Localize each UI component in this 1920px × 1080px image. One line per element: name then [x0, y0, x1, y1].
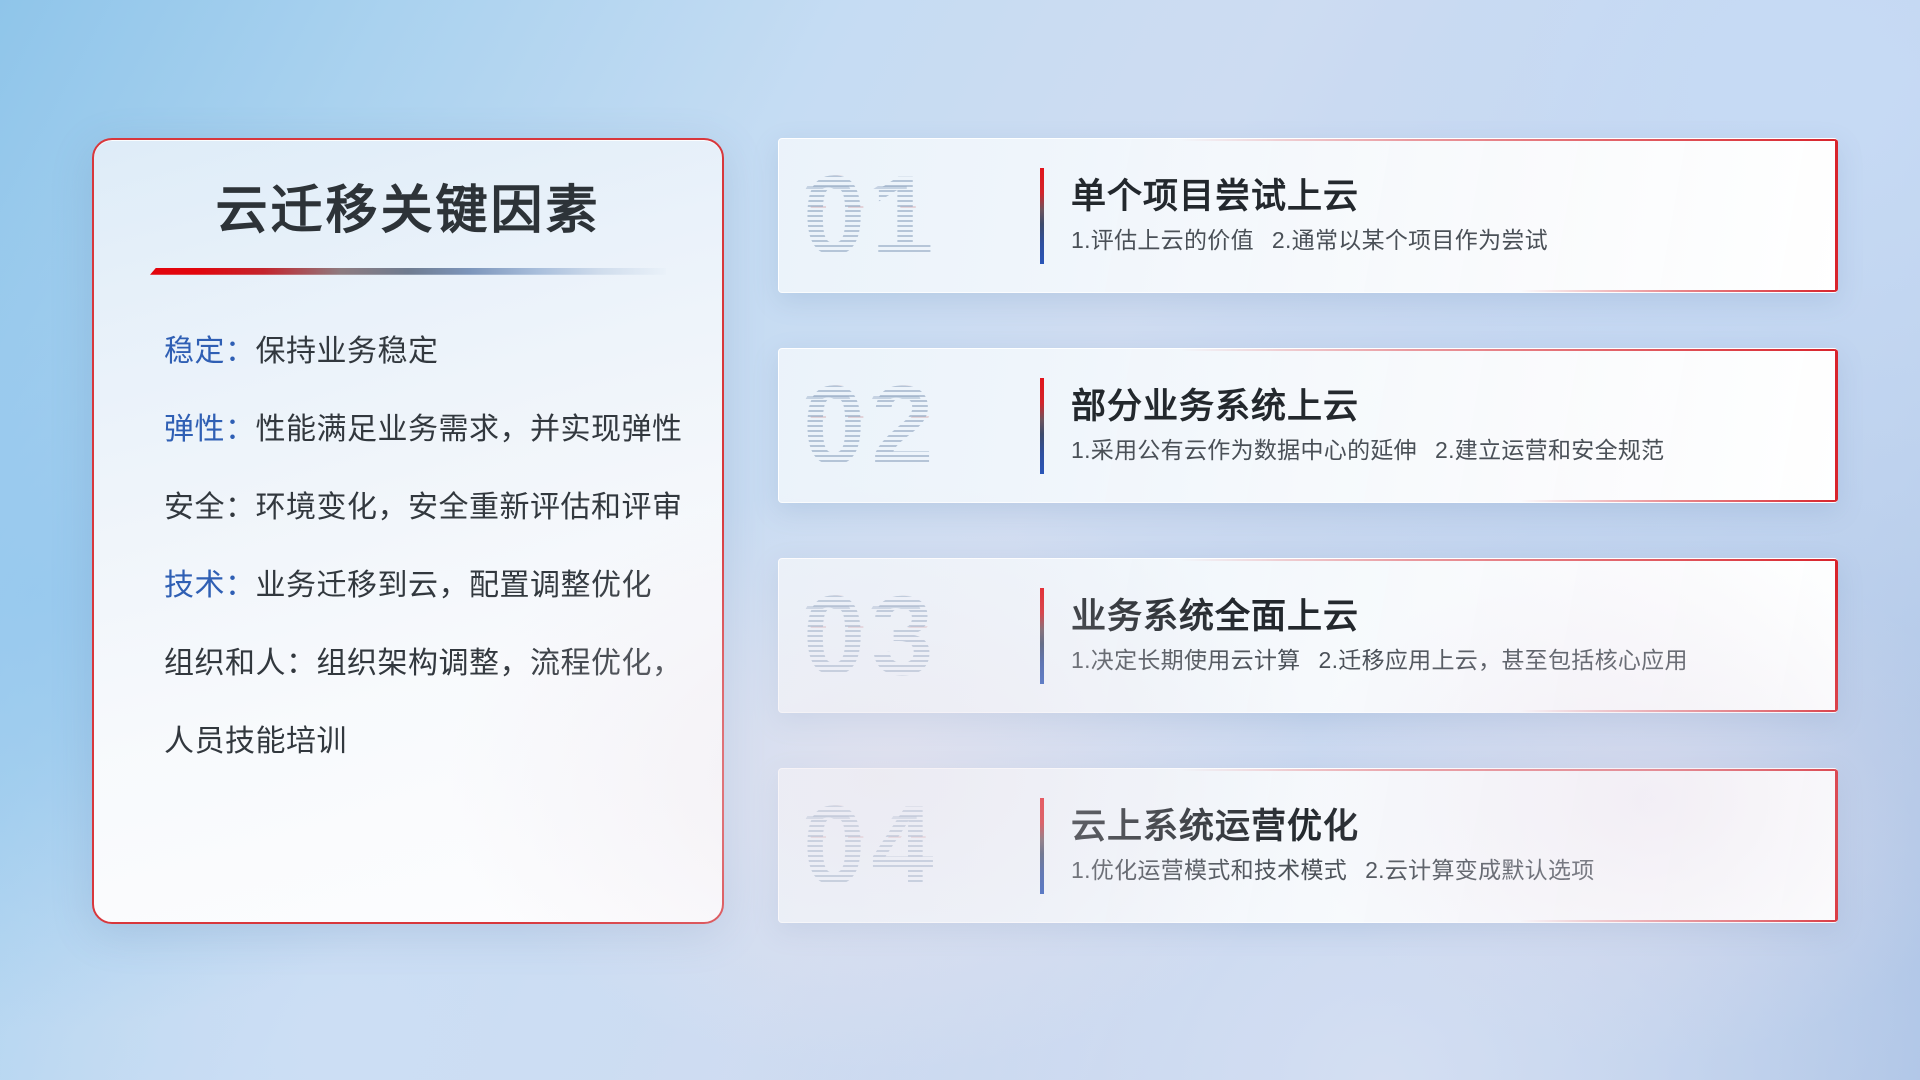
- factor-label-stability: 稳定：: [164, 335, 256, 368]
- card-point-1: 1.优化运营模式和技术模式: [1071, 857, 1347, 883]
- factor-text-elasticity: 性能满足业务需求，并实现弹性: [256, 413, 683, 446]
- key-factors-panel-inner: 云迁移关键因素 稳定：保持业务稳定 弹性：性能满足业务需求，并实现弹性 安全：环…: [94, 140, 722, 922]
- factor-label-organization-and-people: 组织和人：: [164, 647, 317, 680]
- card-subtext-02: 1.采用公有云作为数据中心的延伸2.建立运营和安全规范: [1071, 437, 1812, 465]
- factor-item-stability: 稳定：保持业务稳定: [136, 337, 680, 367]
- card-divider-bar: [1040, 168, 1044, 264]
- card-point-1: 1.决定长期使用云计算: [1071, 647, 1300, 673]
- card-bottom-accent-line: [1520, 290, 1838, 292]
- migration-stage-card-01[interactable]: 01 01 01 单个项目尝试上云 1.评估上云的价值2.通常以某个项目作为尝试: [778, 138, 1838, 293]
- migration-stage-card-02[interactable]: 02 02 02 部分业务系统上云 1.采用公有云作为数据中心的延伸2.建立运营…: [778, 348, 1838, 503]
- factor-label-security: 安全：: [164, 491, 256, 524]
- card-point-2: 2.通常以某个项目作为尝试: [1272, 227, 1548, 253]
- stage-number-glitch-layer-main: 04: [803, 790, 940, 902]
- card-divider-bar: [1040, 378, 1044, 474]
- factor-item-security: 安全：环境变化，安全重新评估和评审: [136, 493, 680, 523]
- card-top-accent-line: [1181, 769, 1838, 771]
- factor-item-elasticity: 弹性：性能满足业务需求，并实现弹性: [136, 415, 680, 445]
- card-right-accent-line: [1835, 769, 1838, 922]
- factor-text-organization-and-people: 组织架构调整，流程优化，: [317, 647, 683, 680]
- stage-number-03: 03 03 03: [803, 577, 1033, 695]
- card-top-accent-line: [1181, 349, 1838, 351]
- stage-number-01: 01 01 01: [803, 157, 1033, 275]
- factor-text-stability: 保持业务稳定: [256, 335, 439, 368]
- stage-number-glitch-layer-main: 01: [803, 160, 940, 272]
- stage-number-04: 04 04 04: [803, 787, 1033, 905]
- migration-stage-card-03[interactable]: 03 03 03 业务系统全面上云 1.决定长期使用云计算2.迁移应用上云，甚至…: [778, 558, 1838, 713]
- factor-text-technology: 业务迁移到云，配置调整优化: [256, 569, 653, 602]
- card-title-03: 业务系统全面上云: [1071, 597, 1812, 637]
- card-subtext-04: 1.优化运营模式和技术模式2.云计算变成默认选项: [1071, 857, 1812, 885]
- card-bottom-accent-line: [1520, 710, 1838, 712]
- card-divider-bar: [1040, 798, 1044, 894]
- factor-item-organization-and-people: 组织和人：组织架构调整，流程优化， 人员技能培训: [136, 649, 680, 757]
- card-right-accent-line: [1835, 559, 1838, 712]
- card-point-2: 2.云计算变成默认选项: [1365, 857, 1594, 883]
- card-right-accent-line: [1835, 139, 1838, 292]
- page-title: 云迁移关键因素: [136, 140, 680, 242]
- card-top-accent-line: [1181, 559, 1838, 561]
- key-factors-panel: 云迁移关键因素 稳定：保持业务稳定 弹性：性能满足业务需求，并实现弹性 安全：环…: [92, 138, 724, 924]
- stage-number-glitch-layer-main: 03: [803, 580, 940, 692]
- stage-number-glitch-layer-main: 02: [803, 370, 940, 482]
- card-bottom-accent-line: [1520, 500, 1838, 502]
- card-point-2: 2.迁移应用上云，甚至包括核心应用: [1318, 647, 1687, 673]
- card-body: 业务系统全面上云 1.决定长期使用云计算2.迁移应用上云，甚至包括核心应用: [1071, 597, 1812, 675]
- factor-label-technology: 技术：: [164, 569, 256, 602]
- card-top-accent-line: [1181, 139, 1838, 141]
- factor-item-technology: 技术：业务迁移到云，配置调整优化: [136, 571, 680, 601]
- card-subtext-01: 1.评估上云的价值2.通常以某个项目作为尝试: [1071, 227, 1812, 255]
- card-body: 云上系统运营优化 1.优化运营模式和技术模式2.云计算变成默认选项: [1071, 807, 1812, 885]
- migration-stage-card-04[interactable]: 04 04 04 云上系统运营优化 1.优化运营模式和技术模式2.云计算变成默认…: [778, 768, 1838, 923]
- card-point-1: 1.采用公有云作为数据中心的延伸: [1071, 437, 1417, 463]
- migration-stage-card-list: 01 01 01 单个项目尝试上云 1.评估上云的价值2.通常以某个项目作为尝试…: [778, 138, 1838, 923]
- title-underline-rule: [150, 268, 666, 275]
- stage-number-02: 02 02 02: [803, 367, 1033, 485]
- factor-label-elasticity: 弹性：: [164, 413, 256, 446]
- card-right-accent-line: [1835, 349, 1838, 502]
- card-subtext-03: 1.决定长期使用云计算2.迁移应用上云，甚至包括核心应用: [1071, 647, 1812, 675]
- factor-text-security: 环境变化，安全重新评估和评审: [256, 491, 683, 524]
- slide-canvas: 云迁移关键因素 稳定：保持业务稳定 弹性：性能满足业务需求，并实现弹性 安全：环…: [0, 0, 1920, 1080]
- factor-list: 稳定：保持业务稳定 弹性：性能满足业务需求，并实现弹性 安全：环境变化，安全重新…: [136, 337, 680, 757]
- card-title-02: 部分业务系统上云: [1071, 387, 1812, 427]
- card-point-2: 2.建立运营和安全规范: [1435, 437, 1664, 463]
- card-divider-bar: [1040, 588, 1044, 684]
- card-title-04: 云上系统运营优化: [1071, 807, 1812, 847]
- card-title-01: 单个项目尝试上云: [1071, 177, 1812, 217]
- card-bottom-accent-line: [1520, 920, 1838, 922]
- card-body: 部分业务系统上云 1.采用公有云作为数据中心的延伸2.建立运营和安全规范: [1071, 387, 1812, 465]
- factor-text-organization-and-people-line2: 人员技能培训: [164, 727, 680, 757]
- card-point-1: 1.评估上云的价值: [1071, 227, 1254, 253]
- card-body: 单个项目尝试上云 1.评估上云的价值2.通常以某个项目作为尝试: [1071, 177, 1812, 255]
